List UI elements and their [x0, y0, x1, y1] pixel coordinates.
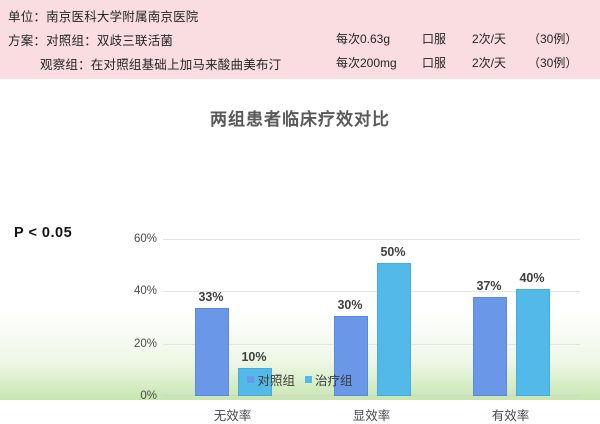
legend-swatch-icon	[247, 376, 254, 383]
control-group-frequency: 2次/天	[472, 30, 506, 47]
y-axis-tick-label: 60%	[111, 233, 157, 245]
bar-value-label: 10%	[241, 350, 266, 364]
observation-group-dose: 每次200mg	[336, 54, 397, 71]
legend-label: 治疗组	[315, 370, 353, 389]
x-axis-category-label: 有效率	[492, 405, 530, 424]
control-group-route: 口服	[422, 30, 446, 47]
y-axis-tick-label: 20%	[111, 338, 157, 350]
x-axis-category-label: 显效率	[353, 405, 391, 424]
institution-line: 单位：南京医科大学附属南京医院	[8, 6, 199, 25]
y-gridline	[163, 239, 580, 240]
y-axis-tick-label: 40%	[111, 285, 157, 297]
legend-label: 对照组	[257, 370, 295, 389]
observation-group-case-count: （30例）	[528, 54, 577, 71]
chart-container: 两组患者临床疗效对比 P < 0.05 0%20%40%60%33%10%无效率…	[0, 79, 600, 400]
legend-item-治疗组[interactable]: 治疗组	[305, 370, 353, 389]
p-value-annotation: P < 0.05	[14, 225, 72, 241]
bar-value-label: 50%	[380, 245, 405, 259]
protocol-observation-group-line: 观察组：在对照组基础上加马来酸曲美布汀	[40, 54, 281, 73]
chart-legend: 对照组治疗组	[0, 370, 600, 389]
legend-item-对照组[interactable]: 对照组	[247, 370, 295, 389]
x-axis-category-label: 无效率	[214, 405, 252, 424]
screenshot-root: 单位：南京医科大学附属南京医院 方案：对照组：双歧三联活菌 观察组：在对照组基础…	[0, 0, 600, 400]
control-group-dose: 每次0.63g	[336, 30, 390, 47]
bar-value-label: 37%	[476, 279, 501, 293]
bar-value-label: 40%	[519, 271, 544, 285]
control-group-case-count: （30例）	[528, 30, 577, 47]
y-axis-tick-label: 0%	[111, 390, 157, 402]
bar-value-label: 33%	[198, 290, 223, 304]
observation-group-frequency: 2次/天	[472, 54, 506, 71]
observation-group-route: 口服	[422, 54, 446, 71]
chart-title: 两组患者临床疗效对比	[0, 105, 600, 130]
legend-swatch-icon	[305, 376, 312, 383]
bar-value-label: 30%	[337, 298, 362, 312]
protocol-header-banner: 单位：南京医科大学附属南京医院 方案：对照组：双歧三联活菌 观察组：在对照组基础…	[0, 0, 600, 79]
protocol-control-group-line: 方案：对照组：双歧三联活菌	[8, 30, 173, 49]
